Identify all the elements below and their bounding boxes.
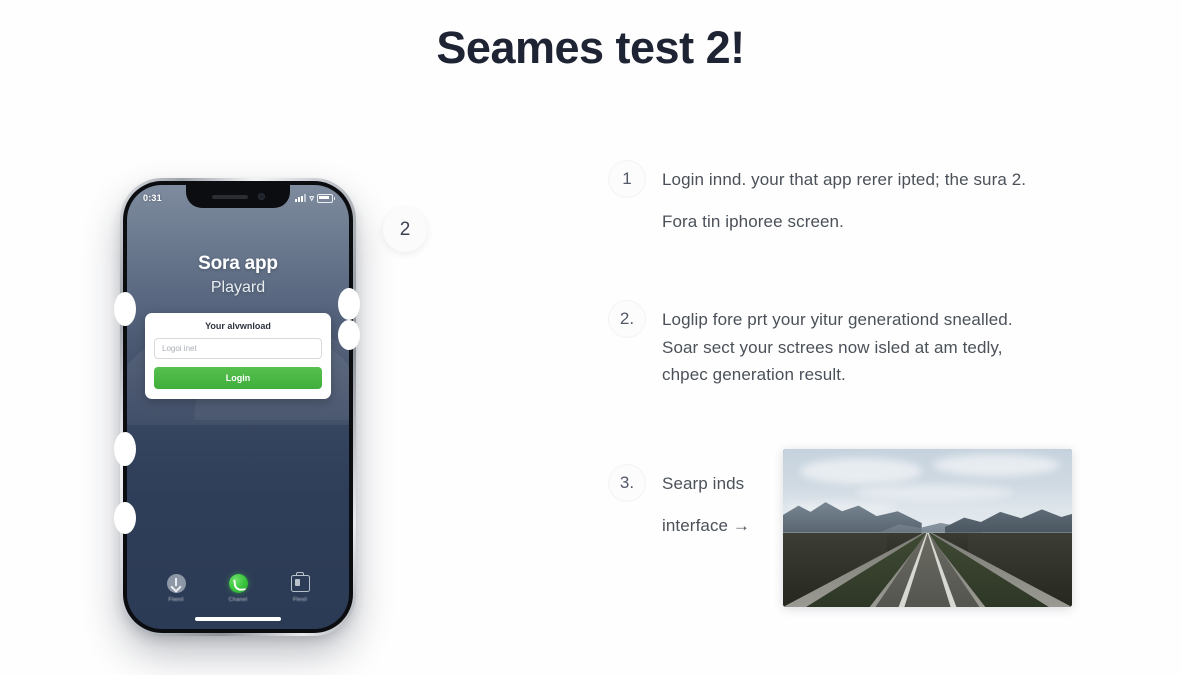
step-1-line-2: Fora tin iphoree screen. bbox=[662, 208, 1026, 236]
photo-cloud-1 bbox=[800, 458, 921, 483]
step-text-2: Loglip fore prt your yitur generationd s… bbox=[662, 306, 1013, 389]
briefcase-icon bbox=[291, 574, 310, 593]
step-number-3: 3. bbox=[608, 464, 646, 502]
step-item-1: 1 Login innd. your that app rerer ipted;… bbox=[608, 166, 1026, 235]
photo-cloud-2 bbox=[933, 454, 1060, 476]
status-bar-icons: ▿ bbox=[295, 194, 333, 203]
step-number-1: 1 bbox=[608, 160, 646, 198]
app-subtitle: Playard bbox=[127, 279, 349, 297]
step-2-line-3: chpec generation result. bbox=[662, 365, 846, 384]
login-input[interactable]: Logoi inet bbox=[154, 338, 322, 359]
volume-down-button[interactable] bbox=[114, 432, 136, 466]
step-3-line-2[interactable]: interface → bbox=[662, 512, 750, 540]
tab-label-briefcase: Flexil bbox=[293, 597, 307, 603]
tab-label-call: Chanel bbox=[229, 597, 248, 603]
mute-switch[interactable] bbox=[114, 502, 136, 534]
tab-item-briefcase[interactable]: Flexil bbox=[275, 574, 325, 603]
step-2-line-1: Loglip fore prt your yitur generationd s… bbox=[662, 310, 1013, 329]
tab-bar: Flwnil Chanel Flexil bbox=[127, 574, 349, 603]
step-item-2: 2. Loglip fore prt your yitur generation… bbox=[608, 306, 1013, 389]
step-2-line-2: Soar sect your sctrees now isled at am t… bbox=[662, 338, 1003, 357]
step-number-2: 2. bbox=[608, 300, 646, 338]
cellular-signal-icon bbox=[295, 194, 306, 202]
tab-item-download[interactable]: Flwnil bbox=[151, 574, 201, 603]
side-button[interactable] bbox=[338, 320, 360, 350]
volume-up-button[interactable] bbox=[114, 292, 136, 326]
phone-mockup: 0:31 ▿ Sora app Playard Your alvwnload L… bbox=[112, 170, 362, 640]
page-title: Seames test 2! bbox=[0, 22, 1181, 74]
wifi-icon: ▿ bbox=[309, 194, 314, 203]
phone-bezel: 0:31 ▿ Sora app Playard Your alvwnload L… bbox=[123, 181, 353, 633]
step-1-line-1: Login innd. your that app rerer ipted; t… bbox=[662, 170, 1026, 189]
power-button[interactable] bbox=[338, 288, 360, 320]
phone-frame: 0:31 ▿ Sora app Playard Your alvwnload L… bbox=[120, 178, 356, 636]
step-text-1: Login innd. your that app rerer ipted; t… bbox=[662, 166, 1026, 235]
login-button[interactable]: Login bbox=[154, 367, 322, 389]
step-item-3: 3. Searp inds interface → bbox=[608, 470, 750, 539]
callout-badge-2: 2 bbox=[383, 208, 427, 252]
phone-notch bbox=[186, 185, 290, 208]
login-card-heading: Your alvwnload bbox=[154, 321, 322, 331]
step-text-3: Searp inds interface → bbox=[662, 470, 750, 539]
download-icon bbox=[167, 574, 186, 593]
phone-screen[interactable]: 0:31 ▿ Sora app Playard Your alvwnload L… bbox=[127, 185, 349, 629]
home-indicator[interactable] bbox=[195, 617, 281, 621]
login-card: Your alvwnload Logoi inet Login bbox=[145, 313, 331, 399]
slide-canvas: Seames test 2! 0:31 ▿ bbox=[0, 0, 1181, 675]
phone-call-icon bbox=[229, 574, 248, 593]
battery-icon bbox=[317, 194, 333, 203]
step-3-line-1: Searp inds bbox=[662, 474, 744, 493]
railway-track-photo[interactable] bbox=[783, 449, 1072, 607]
tab-item-call[interactable]: Chanel bbox=[213, 574, 263, 603]
tab-label-download: Flwnil bbox=[168, 597, 183, 603]
photo-cloud-3 bbox=[855, 484, 1014, 501]
status-bar-time: 0:31 bbox=[143, 193, 162, 203]
front-camera-icon bbox=[258, 193, 265, 200]
earpiece-speaker-icon bbox=[212, 195, 248, 199]
app-title: Sora app bbox=[127, 253, 349, 275]
